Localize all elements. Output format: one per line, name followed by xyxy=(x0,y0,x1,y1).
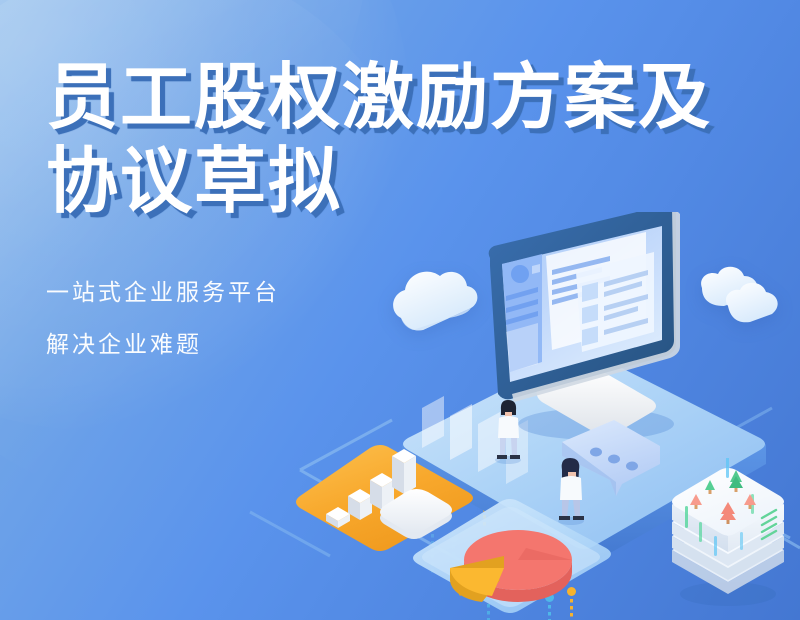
title-line-1: 员工股权激励方案及 xyxy=(46,58,786,138)
bar-4 xyxy=(392,449,416,494)
person-standing xyxy=(495,400,521,464)
people-group xyxy=(466,388,696,528)
subtitle-line-2: 解决企业难题 xyxy=(46,318,786,370)
person-walking xyxy=(558,458,584,525)
headline-block: 员工股权激励方案及 协议草拟 一站式企业服务平台 解决企业难题 xyxy=(46,58,786,370)
promo-banner: 员工股权激励方案及 协议草拟 一站式企业服务平台 解决企业难题 xyxy=(0,0,800,620)
subtitle-line-1: 一站式企业服务平台 xyxy=(46,266,786,318)
title-line-2: 协议草拟 xyxy=(46,142,786,222)
